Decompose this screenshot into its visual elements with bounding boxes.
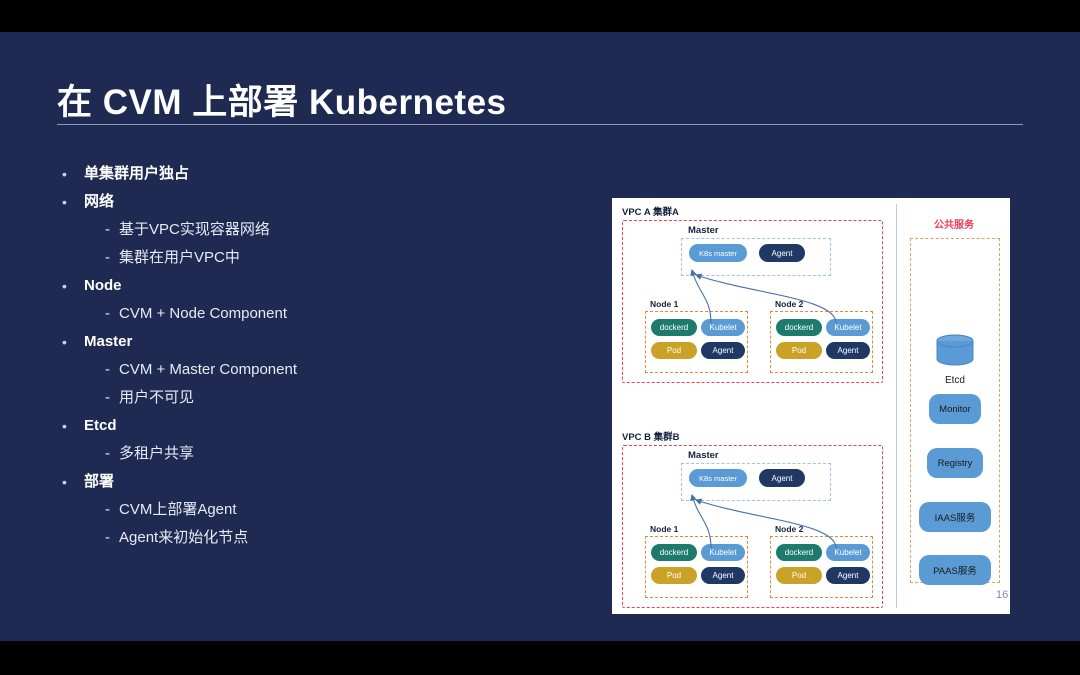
- bullet-text: 部署: [84, 468, 114, 496]
- public-services-section: 公共服务 Etcd Monitor Registry IAAS服务 PAAS服务: [898, 198, 1010, 614]
- pod-component: Pod: [776, 567, 822, 584]
- bullet-text: 用户不可见: [119, 384, 194, 412]
- list-item: - 集群在用户VPC中: [62, 244, 562, 272]
- bullet-marker: -: [105, 384, 119, 412]
- list-item: • 单集群用户独占: [62, 160, 562, 188]
- bullet-text: 单集群用户独占: [84, 160, 189, 188]
- node-label: Node 2: [775, 299, 803, 309]
- page-title: 在 CVM 上部署 Kubernetes: [57, 74, 507, 125]
- bullet-text: Etcd: [84, 412, 117, 440]
- kubelet-component: Kubelet: [826, 319, 870, 336]
- list-item: - 用户不可见: [62, 384, 562, 412]
- vpc-label: VPC B 集群B: [622, 429, 680, 443]
- node-boundary: dockerd Kubelet Pod Agent: [770, 536, 873, 598]
- pod-component: Pod: [651, 567, 697, 584]
- master-agent-node: Agent: [759, 469, 805, 487]
- kubelet-component: Kubelet: [701, 319, 745, 336]
- agent-component: Agent: [701, 567, 745, 584]
- node-label: Node 1: [650, 299, 678, 309]
- bullet-text: Agent来初始化节点: [119, 524, 248, 552]
- node-label: Node 2: [775, 524, 803, 534]
- list-item: - 基于VPC实现容器网络: [62, 216, 562, 244]
- service-registry: Registry: [927, 448, 983, 478]
- cluster-vpc-a: VPC A 集群A Master K8s master Agent Node 1…: [612, 198, 896, 406]
- k8s-master-node: K8s master: [689, 469, 747, 487]
- bullet-text: 集群在用户VPC中: [119, 244, 240, 272]
- bullet-marker: -: [105, 496, 119, 524]
- master-label: Master: [688, 225, 719, 236]
- pod-component: Pod: [651, 342, 697, 359]
- cluster-vpc-b: VPC B 集群B Master K8s master Agent Node 1…: [612, 423, 896, 631]
- bullet-text: Node: [84, 272, 122, 300]
- bullet-list: • 单集群用户独占 • 网络 - 基于VPC实现容器网络 - 集群在用户VPC中…: [62, 160, 562, 552]
- kubelet-component: Kubelet: [701, 544, 745, 561]
- list-item: • Master: [62, 328, 562, 356]
- architecture-diagram: VPC A 集群A Master K8s master Agent Node 1…: [612, 198, 1010, 614]
- etcd-label: Etcd: [925, 375, 985, 386]
- bullet-marker: -: [105, 244, 119, 272]
- dockerd-component: dockerd: [776, 544, 822, 561]
- k8s-master-node: K8s master: [689, 244, 747, 262]
- cluster-boundary: Master K8s master Agent Node 1 dockerd K…: [622, 445, 883, 608]
- list-item: • 部署: [62, 468, 562, 496]
- bullet-marker: -: [105, 216, 119, 244]
- public-services-title: 公共服务: [898, 216, 1010, 231]
- bullet-marker: -: [105, 524, 119, 552]
- bullet-text: 网络: [84, 188, 114, 216]
- diagram-divider: [896, 204, 897, 608]
- bullet-marker: -: [105, 440, 119, 468]
- master-label: Master: [688, 450, 719, 461]
- etcd-service: Etcd: [925, 334, 985, 386]
- list-item: - CVM上部署Agent: [62, 496, 562, 524]
- list-item: • Node: [62, 272, 562, 300]
- list-item: - CVM + Master Component: [62, 356, 562, 384]
- bullet-text: CVM + Master Component: [119, 356, 297, 384]
- bullet-marker: -: [105, 356, 119, 384]
- agent-component: Agent: [826, 342, 870, 359]
- list-item: - CVM + Node Component: [62, 300, 562, 328]
- service-paas: PAAS服务: [919, 555, 991, 585]
- bullet-marker: •: [62, 468, 84, 496]
- screenshot-stage: 在 CVM 上部署 Kubernetes • 单集群用户独占 • 网络 - 基于…: [0, 0, 1080, 675]
- bullet-text: 多租户共享: [119, 440, 194, 468]
- dockerd-component: dockerd: [651, 544, 697, 561]
- service-monitor: Monitor: [929, 394, 981, 424]
- list-item: • Etcd: [62, 412, 562, 440]
- list-item: - 多租户共享: [62, 440, 562, 468]
- title-divider: [57, 124, 1023, 125]
- bullet-text: CVM + Node Component: [119, 300, 287, 328]
- cluster-boundary: Master K8s master Agent Node 1 dockerd K…: [622, 220, 883, 383]
- agent-component: Agent: [826, 567, 870, 584]
- bullet-text: 基于VPC实现容器网络: [119, 216, 270, 244]
- bullet-marker: •: [62, 328, 84, 356]
- dockerd-component: dockerd: [651, 319, 697, 336]
- list-item: • 网络: [62, 188, 562, 216]
- master-agent-node: Agent: [759, 244, 805, 262]
- bullet-marker: -: [105, 300, 119, 328]
- page-number: 16: [996, 589, 1008, 601]
- bullet-marker: •: [62, 188, 84, 216]
- bullet-text: CVM上部署Agent: [119, 496, 237, 524]
- node-boundary: dockerd Kubelet Pod Agent: [645, 311, 748, 373]
- vpc-label: VPC A 集群A: [622, 204, 679, 218]
- bullet-marker: •: [62, 160, 84, 188]
- slide: 在 CVM 上部署 Kubernetes • 单集群用户独占 • 网络 - 基于…: [0, 32, 1080, 641]
- node-boundary: dockerd Kubelet Pod Agent: [645, 536, 748, 598]
- database-cylinder-icon: [932, 334, 978, 368]
- pod-component: Pod: [776, 342, 822, 359]
- service-iaas: IAAS服务: [919, 502, 991, 532]
- kubelet-component: Kubelet: [826, 544, 870, 561]
- agent-component: Agent: [701, 342, 745, 359]
- node-boundary: dockerd Kubelet Pod Agent: [770, 311, 873, 373]
- bullet-marker: •: [62, 272, 84, 300]
- list-item: - Agent来初始化节点: [62, 524, 562, 552]
- node-label: Node 1: [650, 524, 678, 534]
- dockerd-component: dockerd: [776, 319, 822, 336]
- public-services-boundary: Etcd Monitor Registry IAAS服务 PAAS服务: [910, 238, 1000, 583]
- bullet-marker: •: [62, 412, 84, 440]
- bullet-text: Master: [84, 328, 132, 356]
